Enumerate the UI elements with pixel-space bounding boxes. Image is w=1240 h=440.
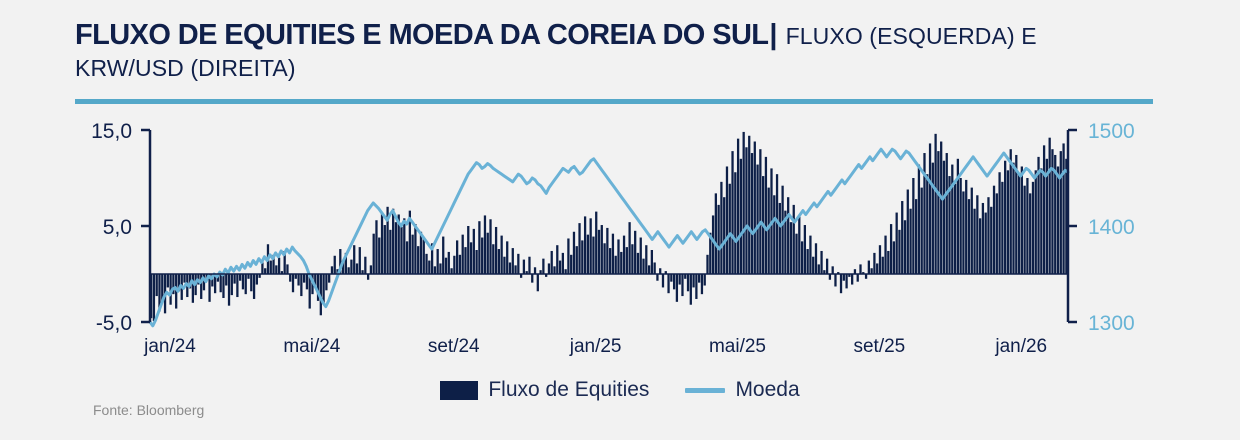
bar: [425, 254, 427, 274]
bar: [704, 274, 706, 286]
bar: [542, 259, 544, 274]
bar: [679, 274, 681, 285]
bar: [676, 274, 678, 302]
axis-tick-label: jan/26: [994, 336, 1047, 357]
bar: [364, 257, 366, 274]
bar: [845, 274, 847, 288]
y-axis-left: [141, 130, 150, 322]
bar: [592, 237, 594, 274]
bar: [793, 205, 795, 274]
bar: [1007, 170, 1009, 274]
bar: [809, 236, 811, 274]
bar: [768, 188, 770, 274]
bar: [292, 274, 294, 292]
bar: [236, 274, 238, 297]
bar: [420, 232, 422, 274]
bar: [1001, 182, 1003, 274]
bar: [745, 147, 747, 274]
bar: [990, 207, 992, 274]
bar: [450, 268, 452, 274]
bar: [909, 209, 911, 274]
bar: [562, 253, 564, 274]
bar: [487, 233, 489, 274]
legend-item-moeda: Moeda: [685, 378, 799, 402]
bar: [553, 266, 555, 274]
bar: [509, 262, 511, 274]
bar: [659, 268, 661, 274]
bar: [353, 245, 355, 274]
bar: [233, 274, 235, 284]
bar: [706, 255, 708, 274]
bar: [1023, 186, 1025, 274]
bar: [723, 197, 725, 274]
bar: [601, 225, 603, 274]
bar: [907, 190, 909, 274]
bar: [378, 238, 380, 274]
bar: [926, 174, 928, 274]
axis-tick-label: mai/24: [283, 336, 340, 357]
bar: [289, 274, 291, 282]
bar: [1062, 143, 1064, 274]
bar: [439, 263, 441, 274]
bar: [286, 264, 288, 274]
header-divider: [75, 99, 1153, 104]
bar: [581, 240, 583, 274]
bar: [306, 274, 308, 289]
bar: [720, 182, 722, 274]
bar: [414, 224, 416, 274]
bar: [790, 222, 792, 274]
y-axis-right-labels: 150014001300: [1088, 120, 1135, 335]
bar: [1040, 168, 1042, 274]
bar: [612, 234, 614, 274]
bar: [1021, 166, 1023, 274]
bar: [634, 231, 636, 274]
bar: [506, 241, 508, 274]
chart-page: FLUXO DE EQUITIES E MOEDA DA COREIA DO S…: [0, 0, 1240, 440]
bar: [690, 274, 692, 305]
bar: [495, 227, 497, 274]
bar: [183, 274, 185, 283]
bar: [951, 165, 953, 274]
bar: [1012, 163, 1014, 274]
bar: [325, 274, 327, 290]
bar: [1004, 161, 1006, 274]
bar: [651, 250, 653, 274]
bar: [153, 274, 155, 321]
bar: [893, 241, 895, 274]
bar: [228, 274, 230, 306]
axis-tick-label: 1500: [1088, 120, 1135, 143]
bar: [464, 247, 466, 274]
axis-tick-label: mai/25: [709, 336, 766, 357]
bar: [395, 222, 397, 274]
bar: [807, 249, 809, 274]
source-note: Fonte: Bloomberg: [93, 402, 204, 418]
bar-series-fluxo-de-equities: [150, 132, 1068, 321]
bar: [1026, 178, 1028, 274]
bar: [795, 234, 797, 274]
bar: [501, 236, 503, 274]
bar: [673, 274, 675, 289]
bar: [559, 261, 561, 274]
bar: [826, 259, 828, 274]
bar: [442, 237, 444, 274]
bar: [915, 199, 917, 274]
bar: [937, 151, 939, 274]
bar: [417, 246, 419, 274]
bar: [904, 220, 906, 274]
bar: [962, 191, 964, 274]
bar: [359, 247, 361, 274]
bar: [590, 218, 592, 274]
bar: [615, 256, 617, 274]
bar: [551, 251, 553, 274]
bar: [239, 274, 241, 281]
bar: [350, 260, 352, 274]
bar: [264, 268, 266, 274]
bar: [470, 242, 472, 274]
bar: [876, 263, 878, 274]
bar: [428, 261, 430, 274]
bar: [303, 274, 305, 283]
y-axis-left-labels: 15,05,0-5,0: [91, 120, 132, 335]
bar: [434, 266, 436, 274]
bar: [570, 255, 572, 274]
bar: [940, 142, 942, 274]
bar: [256, 274, 258, 285]
bar: [773, 195, 775, 274]
bar: [1010, 149, 1012, 274]
bar: [982, 203, 984, 274]
bar: [484, 215, 486, 274]
bar: [756, 165, 758, 274]
axis-tick-label: set/25: [853, 336, 905, 357]
bar: [820, 251, 822, 274]
bar: [459, 255, 461, 274]
bar: [261, 262, 263, 274]
page-title: FLUXO DE EQUITIES E MOEDA DA COREIA DO S…: [75, 20, 1155, 51]
bar: [979, 218, 981, 274]
bar: [489, 219, 491, 274]
bar: [192, 274, 194, 303]
legend-swatch-line-icon: [685, 388, 725, 393]
bar: [973, 209, 975, 274]
bar: [901, 201, 903, 274]
bar: [857, 274, 859, 282]
bar: [748, 136, 750, 274]
bar: [737, 139, 739, 274]
bar: [478, 221, 480, 274]
bar: [818, 264, 820, 274]
bar: [512, 248, 514, 274]
bar: [640, 238, 642, 274]
axis-tick-label: 5,0: [103, 216, 132, 239]
legend-label-moeda: Moeda: [735, 378, 799, 402]
bar: [1057, 166, 1059, 274]
bar: [626, 247, 628, 274]
bar: [481, 238, 483, 274]
bar: [245, 274, 247, 294]
bar: [423, 239, 425, 274]
bar: [829, 274, 831, 280]
combo-chart: 15,05,0-5,0 150014001300 jan/24mai/24set…: [0, 112, 1240, 362]
axis-tick-label: set/24: [428, 336, 480, 357]
bar: [334, 256, 336, 274]
bar: [781, 186, 783, 274]
bar: [873, 253, 875, 274]
bar: [971, 188, 973, 274]
bar: [918, 165, 920, 274]
bar: [617, 239, 619, 274]
bar: [759, 149, 761, 274]
bar: [528, 257, 530, 274]
bar: [740, 159, 742, 274]
bar: [573, 232, 575, 274]
bar: [250, 274, 252, 291]
title-strong: FLUXO DE EQUITIES E MOEDA DA COREIA DO S…: [75, 19, 768, 51]
bar: [531, 274, 533, 283]
chart-area: 15,05,0-5,0 150014001300 jan/24mai/24set…: [0, 112, 1240, 362]
bar: [467, 226, 469, 274]
bar: [603, 243, 605, 274]
bar: [656, 274, 658, 281]
bar: [356, 263, 358, 274]
bar: [242, 274, 244, 289]
axis-tick-label: 1400: [1088, 216, 1135, 239]
bar: [331, 266, 333, 274]
bar: [1035, 170, 1037, 274]
bar: [987, 197, 989, 274]
bar: [448, 252, 450, 274]
y-axis-right: [1068, 130, 1077, 322]
bar: [548, 263, 550, 274]
chart-legend: Fluxo de Equities Moeda: [0, 378, 1240, 402]
bar: [726, 166, 728, 274]
bar: [692, 274, 694, 287]
bar: [815, 243, 817, 274]
bar: [859, 264, 861, 274]
bar: [695, 274, 697, 299]
bar: [943, 161, 945, 274]
bar: [715, 193, 717, 274]
bar: [734, 172, 736, 274]
bar: [576, 246, 578, 274]
bar: [654, 262, 656, 274]
bar: [503, 257, 505, 274]
bar: [631, 244, 633, 274]
axis-tick-label: jan/25: [569, 336, 622, 357]
bar: [253, 274, 255, 299]
bar: [587, 235, 589, 274]
legend-swatch-bar-icon: [440, 381, 478, 400]
bar: [976, 195, 978, 274]
bar: [645, 245, 647, 274]
bar: [662, 274, 664, 287]
bar: [578, 223, 580, 274]
bar: [367, 274, 369, 280]
bar: [156, 274, 158, 296]
bar: [965, 180, 967, 274]
bar: [879, 245, 881, 274]
bar: [754, 142, 756, 274]
bar: [584, 216, 586, 274]
bar: [812, 257, 814, 274]
legend-item-fluxo: Fluxo de Equities: [440, 378, 649, 402]
axis-tick-label: -5,0: [96, 312, 132, 335]
bar: [231, 274, 233, 295]
bar: [687, 274, 689, 291]
bar: [912, 178, 914, 274]
bar: [373, 234, 375, 274]
bar: [804, 225, 806, 274]
bar: [868, 261, 870, 274]
bar: [275, 265, 277, 274]
title-second-line: KRW/USD (DIREITA): [75, 53, 1155, 83]
bar: [731, 151, 733, 274]
bar: [392, 209, 394, 274]
axis-tick-label: jan/24: [143, 336, 196, 357]
bar: [1049, 138, 1051, 274]
bar: [840, 274, 842, 293]
x-axis-labels: jan/24mai/24set/24jan/25mai/25set/25jan/…: [143, 336, 1047, 357]
bar: [167, 274, 169, 287]
bar: [648, 265, 650, 274]
bar: [932, 163, 934, 274]
bar: [882, 257, 884, 274]
bar: [595, 212, 597, 274]
bar: [921, 188, 923, 274]
bar: [681, 274, 683, 296]
bar: [832, 266, 834, 274]
bar: [328, 274, 330, 283]
bar: [348, 267, 350, 274]
bar: [787, 197, 789, 274]
bar: [567, 238, 569, 274]
bar: [765, 157, 767, 274]
bar: [884, 236, 886, 274]
bar: [537, 274, 539, 291]
axis-tick-label: 15,0: [91, 120, 132, 143]
bar: [960, 178, 962, 274]
bar: [606, 228, 608, 274]
bar: [517, 254, 519, 274]
bar: [968, 199, 970, 274]
bar: [534, 267, 536, 274]
bar: [670, 274, 672, 282]
bar: [929, 143, 931, 274]
bar: [834, 274, 836, 286]
bar: [375, 220, 377, 274]
bar: [954, 184, 956, 274]
bar: [1043, 145, 1045, 274]
bar: [270, 261, 272, 274]
bar: [843, 274, 845, 281]
page-header: FLUXO DE EQUITIES E MOEDA DA COREIA DO S…: [75, 20, 1155, 83]
bar: [779, 203, 781, 274]
bar: [514, 265, 516, 274]
bar: [523, 260, 525, 274]
bar: [993, 186, 995, 274]
bar: [620, 252, 622, 274]
bar: [411, 235, 413, 274]
bar: [667, 274, 669, 293]
bar: [851, 274, 853, 285]
bar: [642, 259, 644, 274]
bar: [898, 230, 900, 274]
bar: [998, 172, 1000, 274]
bar: [1060, 151, 1062, 274]
bar: [445, 258, 447, 274]
bar: [996, 193, 998, 274]
bar: [475, 250, 477, 274]
axis-tick-label: 1300: [1088, 312, 1135, 335]
bar: [712, 215, 714, 274]
bar: [1032, 182, 1034, 274]
bar: [389, 230, 391, 274]
title-subtitle: FLUXO (ESQUERDA) E: [786, 23, 1037, 49]
bar: [1018, 174, 1020, 274]
bar: [698, 274, 700, 283]
bar: [462, 235, 464, 274]
bar: [300, 274, 302, 296]
bar: [278, 258, 280, 274]
legend-label-fluxo: Fluxo de Equities: [488, 378, 649, 402]
bar: [801, 241, 803, 274]
bar: [637, 253, 639, 274]
bar: [297, 274, 299, 286]
title-separator: |: [768, 19, 778, 51]
bar: [701, 274, 703, 294]
bar: [985, 213, 987, 274]
bar: [598, 230, 600, 274]
bar: [456, 240, 458, 274]
bar: [609, 248, 611, 274]
bar: [437, 249, 439, 274]
bar: [896, 213, 898, 274]
bar: [1029, 193, 1031, 274]
bar: [798, 216, 800, 274]
bar: [751, 153, 753, 274]
bar: [225, 274, 227, 286]
bar: [381, 213, 383, 274]
bar: [403, 218, 405, 274]
bar: [370, 265, 372, 274]
bar: [717, 205, 719, 274]
bar: [946, 153, 948, 274]
bar: [222, 274, 224, 298]
bar: [453, 256, 455, 274]
bar: [887, 251, 889, 274]
bar: [556, 245, 558, 274]
bar: [743, 132, 745, 274]
bar: [220, 274, 222, 292]
bar: [498, 249, 500, 274]
bar: [628, 222, 630, 274]
bar: [384, 225, 386, 274]
bar: [400, 227, 402, 274]
bar: [623, 236, 625, 274]
bar: [934, 134, 936, 274]
bar: [729, 184, 731, 274]
bar: [406, 241, 408, 274]
bar: [870, 268, 872, 274]
bar: [492, 244, 494, 274]
bar: [890, 224, 892, 274]
bar: [473, 229, 475, 274]
